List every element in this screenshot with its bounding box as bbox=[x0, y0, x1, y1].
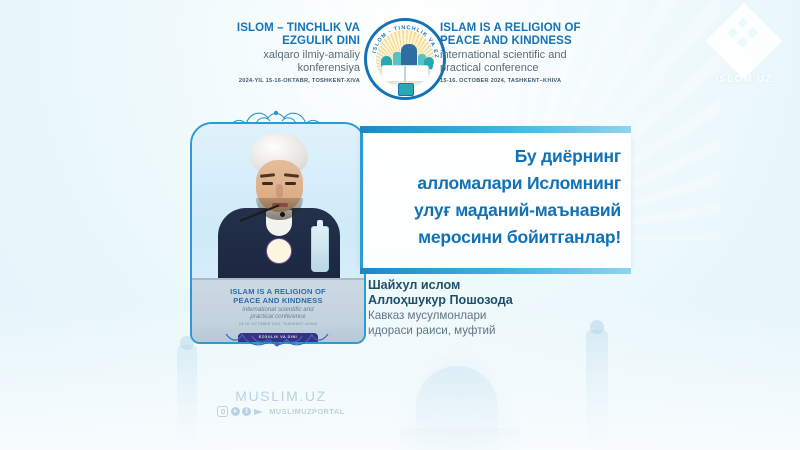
facebook-icon[interactable] bbox=[242, 407, 251, 416]
header-uzbek-subtitle-line2: konferensiya bbox=[200, 62, 360, 75]
header-uzbek-title: ISLOM – TINCHLIK VA EZGULIK DINI bbox=[200, 22, 360, 47]
mosque-dome-watermark bbox=[392, 348, 522, 450]
instagram-icon[interactable] bbox=[217, 406, 228, 417]
header-english-title-line2: PEACE AND KINDNESS bbox=[440, 35, 620, 48]
podium-title: ISLAM IS A RELIGION OF PEACE AND KINDNES… bbox=[192, 287, 364, 305]
muslimuz-handle: MUSLIMUZPORTAL bbox=[269, 407, 344, 416]
ornament-bottom-icon bbox=[186, 330, 366, 352]
speaker-name: Шайхул ислом Аллоҳшукур Пошозода bbox=[368, 278, 638, 308]
header-english-title-line1: ISLAM IS A RELIGION OF bbox=[440, 22, 620, 35]
speaker-role-line2: идораси раиси, муфтий bbox=[368, 324, 638, 339]
speaker-photo-card: sh ISLAM IS A RELIGION bbox=[186, 106, 366, 376]
header-english-block: ISLAM IS A RELIGION OF PEACE AND KINDNES… bbox=[440, 22, 620, 84]
podium-date: 15-16. OCTOBER 2024, TASHKENT–KHIVA bbox=[192, 322, 364, 326]
quote-line-2: алломалари Исломнинг bbox=[373, 170, 621, 197]
podium-subtitle-line2: practical conference bbox=[192, 313, 364, 320]
quote-panel: Бу диёрнинг алломалари Исломнинг улуғ ма… bbox=[360, 133, 631, 268]
header-english-subtitle: international scientific and practical c… bbox=[440, 49, 620, 74]
water-bottle bbox=[311, 226, 329, 272]
telegram-icon[interactable] bbox=[254, 408, 264, 416]
speaker-title-line: Шайхул ислом bbox=[368, 278, 638, 293]
header-uzbek-subtitle: xalqaro ilmiy-amaliy konferensiya bbox=[200, 49, 360, 74]
header-uzbek-subtitle-line1: xalqaro ilmiy-amaliy bbox=[200, 49, 360, 62]
conference-emblem: ISLOM - TINCHLIK VA EZGULIK DINI bbox=[364, 18, 446, 100]
svg-text:ISLOM - TINCHLIK VA EZGULIK DI: ISLOM - TINCHLIK VA EZGULIK DINI bbox=[367, 21, 439, 59]
social-links-row: MUSLIMUZPORTAL bbox=[206, 406, 356, 417]
podium-title-line1: ISLAM IS A RELIGION OF bbox=[192, 287, 364, 296]
speaker-photo-frame: sh ISLAM IS A RELIGION bbox=[190, 122, 366, 344]
podium-emblem-icon bbox=[266, 238, 292, 264]
conference-header: ISLOM – TINCHLIK VA EZGULIK DINI xalqaro… bbox=[0, 8, 800, 104]
header-english-title: ISLAM IS A RELIGION OF PEACE AND KINDNES… bbox=[440, 22, 620, 47]
header-uzbek-title-line1: ISLOM – TINCHLIK VA bbox=[200, 22, 360, 35]
youtube-icon[interactable] bbox=[231, 407, 240, 416]
podium-subtitle-line1: international scientific and bbox=[192, 306, 364, 313]
speaker-attribution: Шайхул ислом Аллоҳшукур Пошозода Кавказ … bbox=[368, 278, 638, 338]
speaker-role-line1: Кавказ мусулмонлари bbox=[368, 309, 638, 324]
microphone-head-icon bbox=[280, 212, 285, 217]
speaker-eye-right bbox=[285, 182, 296, 185]
minaret-right-watermark bbox=[586, 330, 608, 450]
speaker-eye-left bbox=[262, 182, 273, 185]
poster-canvas: ISLOM – TINCHLIK VA EZGULIK DINI xalqaro… bbox=[0, 0, 800, 450]
header-uzbek-title-line2: EZGULIK DINI bbox=[200, 35, 360, 48]
header-english-subtitle-line2: practical conference bbox=[440, 62, 620, 75]
quote-line-1: Бу диёрнинг bbox=[373, 143, 621, 170]
mosque-base-watermark bbox=[400, 428, 520, 450]
speaker-role: Кавказ мусулмонлари идораси раиси, муфти… bbox=[368, 309, 638, 338]
emblem-bottom-badge bbox=[398, 83, 414, 96]
speaker-fullname-line: Аллоҳшукур Пошозода bbox=[368, 293, 638, 308]
muslimuz-brand: MUSLIM.UZ bbox=[206, 388, 356, 404]
header-english-date: 15-16. OCTOBER 2024, TASHKENT–KHIVA bbox=[440, 78, 620, 84]
header-uzbek-block: ISLOM – TINCHLIK VA EZGULIK DINI xalqaro… bbox=[200, 22, 360, 84]
header-english-subtitle-line1: international scientific and bbox=[440, 49, 620, 62]
quote-line-3: улуғ маданий-маънавий bbox=[373, 197, 621, 224]
muslimuz-footer: MUSLIM.UZ MUSLIMUZPORTAL bbox=[206, 388, 356, 417]
quote-text: Бу диёрнинг алломалари Исломнинг улуғ ма… bbox=[373, 143, 621, 251]
header-uzbek-date: 2024-YIL 15-16-OKTABR, TOSHKENT-XIVA bbox=[200, 78, 360, 84]
mosque-dome-inner-watermark bbox=[416, 366, 498, 450]
quote-line-4: меросини бойитганлар! bbox=[373, 224, 621, 251]
islomuz-kufic-logo-icon bbox=[706, 3, 782, 79]
podium-title-line2: PEACE AND KINDNESS bbox=[192, 296, 364, 305]
podium-subtitle: international scientific and practical c… bbox=[192, 306, 364, 321]
islomuz-watermark: ISLOM.UZ bbox=[710, 14, 778, 85]
emblem-ring-label: ISLOM - TINCHLIK VA EZGULIK DINI bbox=[367, 21, 439, 59]
speaker-nose bbox=[276, 184, 283, 198]
